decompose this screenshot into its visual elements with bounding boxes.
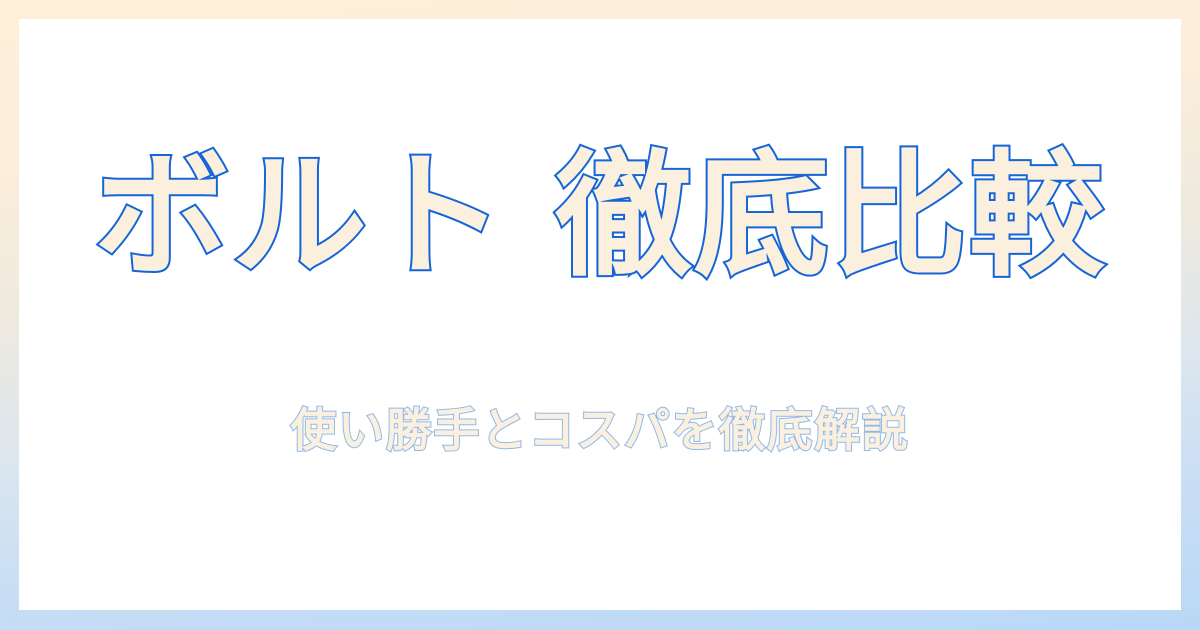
page-subtitle: 使い勝手とコスパを徹底解説 <box>291 402 910 460</box>
subtitle-container: 使い勝手とコスパを徹底解説 <box>19 402 1181 460</box>
banner-canvas: ボルト 徹底比較 使い勝手とコスパを徹底解説 <box>0 0 1200 630</box>
page-title: ボルト 徹底比較 <box>94 137 1106 297</box>
title-container: ボルト 徹底比較 <box>19 137 1181 297</box>
content-panel: ボルト 徹底比較 使い勝手とコスパを徹底解説 <box>19 19 1181 610</box>
